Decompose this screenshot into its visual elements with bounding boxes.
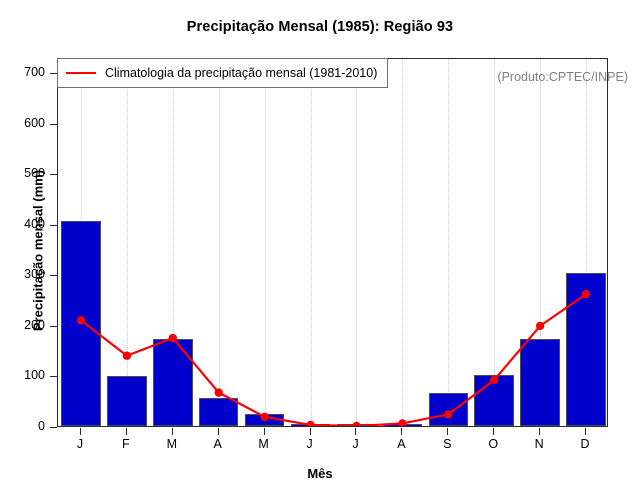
y-tick-mark xyxy=(50,275,57,276)
y-tick-label: 500 xyxy=(5,166,45,180)
climatology-marker-a-3 xyxy=(215,388,223,396)
x-tick-mark xyxy=(80,428,81,435)
plot-area xyxy=(57,58,608,427)
climatology-marker-j-6 xyxy=(352,422,360,426)
climatology-marker-m-2 xyxy=(169,334,177,342)
y-tick-label: 100 xyxy=(5,368,45,382)
x-tick-label: D xyxy=(565,437,605,451)
x-tick-mark xyxy=(264,428,265,435)
x-tick-mark xyxy=(126,428,127,435)
y-axis-label: Precipitação mensal (mm) xyxy=(31,121,46,381)
x-tick-mark xyxy=(585,428,586,435)
x-tick-label: N xyxy=(519,437,559,451)
y-tick-label: 200 xyxy=(5,318,45,332)
y-tick-mark xyxy=(50,174,57,175)
x-tick-mark xyxy=(493,428,494,435)
climatology-marker-j-0 xyxy=(77,316,85,324)
y-tick-label: 300 xyxy=(5,267,45,281)
x-tick-mark xyxy=(447,428,448,435)
climatology-marker-n-10 xyxy=(536,322,544,330)
x-tick-mark xyxy=(172,428,173,435)
x-tick-label: J xyxy=(60,437,100,451)
climatology-marker-j-5 xyxy=(306,421,314,426)
product-credit: (Produto:CPTEC/INPE) xyxy=(497,70,628,84)
climatology-marker-o-9 xyxy=(490,376,498,384)
y-tick-mark xyxy=(50,225,57,226)
x-tick-label: F xyxy=(106,437,146,451)
x-axis-label: Mês xyxy=(0,466,640,481)
x-tick-label: J xyxy=(335,437,375,451)
x-tick-label: A xyxy=(198,437,238,451)
x-tick-mark xyxy=(310,428,311,435)
climatology-marker-f-1 xyxy=(123,352,131,360)
climatology-marker-s-8 xyxy=(444,410,452,418)
climatology-marker-d-11 xyxy=(582,290,590,298)
x-tick-label: S xyxy=(427,437,467,451)
y-tick-mark xyxy=(50,376,57,377)
x-tick-label: M xyxy=(244,437,284,451)
y-tick-label: 400 xyxy=(5,217,45,231)
x-tick-mark xyxy=(401,428,402,435)
x-tick-label: O xyxy=(473,437,513,451)
x-tick-label: A xyxy=(381,437,421,451)
y-tick-mark xyxy=(50,73,57,74)
y-tick-label: 700 xyxy=(5,65,45,79)
plot-inner xyxy=(58,59,607,426)
climatology-line-series xyxy=(58,59,607,426)
y-tick-mark xyxy=(50,124,57,125)
climatology-polyline xyxy=(81,294,586,426)
y-tick-mark xyxy=(50,326,57,327)
y-tick-mark xyxy=(50,427,57,428)
legend: Climatologia da precipitação mensal (198… xyxy=(57,58,388,88)
y-tick-label: 0 xyxy=(5,419,45,433)
y-tick-label: 600 xyxy=(5,116,45,130)
legend-label-climatology: Climatologia da precipitação mensal (198… xyxy=(105,66,377,80)
legend-line-swatch xyxy=(66,72,96,74)
x-tick-mark xyxy=(539,428,540,435)
climatology-marker-a-7 xyxy=(398,419,406,426)
x-tick-label: J xyxy=(290,437,330,451)
x-tick-label: M xyxy=(152,437,192,451)
climatology-marker-m-4 xyxy=(260,413,268,421)
precipitation-chart: Precipitação Mensal (1985): Região 93 Pr… xyxy=(0,0,640,500)
x-tick-mark xyxy=(218,428,219,435)
x-tick-mark xyxy=(355,428,356,435)
chart-title: Precipitação Mensal (1985): Região 93 xyxy=(0,19,640,35)
